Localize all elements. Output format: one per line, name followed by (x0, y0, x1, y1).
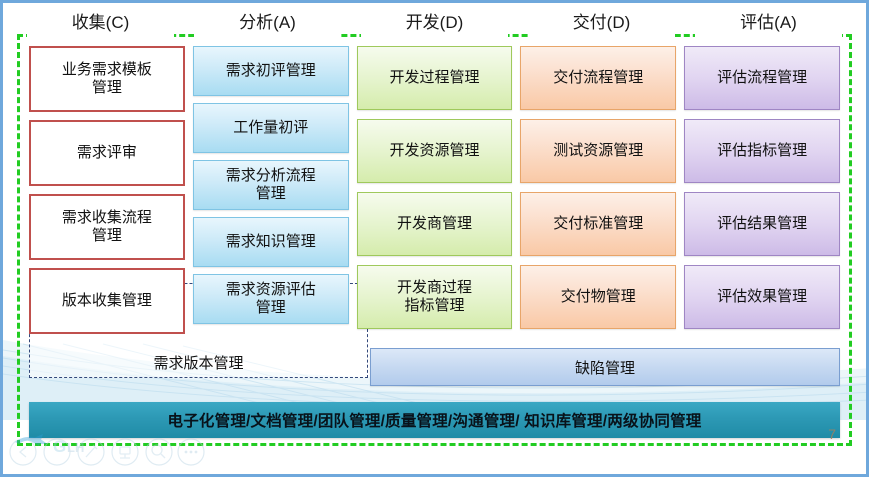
ellipsis-icon (178, 439, 204, 465)
cell-analyze-5[interactable]: 需求资源评估 管理 (193, 274, 349, 324)
cell-deliver-1[interactable]: 交付流程管理 (520, 46, 676, 110)
column-collect: 业务需求模板 管理 需求评审 需求收集流程 管理 版本收集管理 (29, 46, 185, 361)
slide-canvas: 收集(C) 分析(A) 开发(D) 交付(D) 评估(A) 业务需求模板 管理 … (0, 0, 869, 477)
cell-evaluate-3[interactable]: 评估结果管理 (684, 192, 840, 256)
chevron-left-icon (10, 439, 36, 465)
cell-collect-2[interactable]: 需求评审 (29, 120, 185, 186)
cell-deliver-4[interactable]: 交付物管理 (520, 265, 676, 329)
column-header-evaluate: 评估(A) (695, 9, 842, 39)
capability-matrix: 业务需求模板 管理 需求评审 需求收集流程 管理 版本收集管理 需求初评管理 工… (29, 46, 840, 361)
column-header-develop: 开发(D) (361, 9, 508, 39)
cell-collect-3[interactable]: 需求收集流程 管理 (29, 194, 185, 260)
column-header-analyze: 分析(A) (194, 9, 341, 39)
column-evaluate: 评估流程管理 评估指标管理 评估结果管理 评估效果管理 (684, 46, 840, 361)
cell-analyze-4[interactable]: 需求知识管理 (193, 217, 349, 267)
cell-evaluate-1[interactable]: 评估流程管理 (684, 46, 840, 110)
column-develop: 开发过程管理 开发资源管理 开发商管理 开发商过程 指标管理 (357, 46, 513, 361)
network-icon (112, 439, 138, 465)
cell-develop-2[interactable]: 开发资源管理 (357, 119, 513, 183)
cell-collect-4[interactable]: 版本收集管理 (29, 268, 185, 334)
cell-deliver-2[interactable]: 测试资源管理 (520, 119, 676, 183)
column-analyze: 需求初评管理 工作量初评 需求分析流程 管理 需求知识管理 需求资源评估 管理 (193, 46, 349, 361)
cell-analyze-1[interactable]: 需求初评管理 (193, 46, 349, 96)
column-header-deliver: 交付(D) (528, 9, 675, 39)
pencil-icon (78, 439, 104, 465)
cell-develop-1[interactable]: 开发过程管理 (357, 46, 513, 110)
cell-analyze-2[interactable]: 工作量初评 (193, 103, 349, 153)
cell-develop-4[interactable]: 开发商过程 指标管理 (357, 265, 513, 329)
column-headers: 收集(C) 分析(A) 开发(D) 交付(D) 评估(A) (17, 9, 852, 39)
column-header-collect: 收集(C) (27, 9, 174, 39)
column-deliver: 交付流程管理 测试资源管理 交付标准管理 交付物管理 (520, 46, 676, 361)
foundation-services-bar[interactable]: 电子化管理/文档管理/团队管理/质量管理/沟通管理/ 知识库管理/两级协同管理 (29, 402, 840, 438)
search-icon (146, 439, 172, 465)
cell-analyze-3[interactable]: 需求分析流程 管理 (193, 160, 349, 210)
defect-management-bar[interactable]: 缺陷管理 (370, 348, 840, 386)
svg-text:LH: LH (67, 440, 84, 455)
cell-evaluate-2[interactable]: 评估指标管理 (684, 119, 840, 183)
cell-deliver-3[interactable]: 交付标准管理 (520, 192, 676, 256)
cell-develop-3[interactable]: 开发商管理 (357, 192, 513, 256)
defect-management-label: 缺陷管理 (575, 357, 635, 378)
page-number: 7 (828, 426, 836, 442)
svg-text:G: G (53, 437, 66, 456)
cell-collect-1[interactable]: 业务需求模板 管理 (29, 46, 185, 112)
foundation-services-label: 电子化管理/文档管理/团队管理/质量管理/沟通管理/ 知识库管理/两级协同管理 (168, 409, 702, 431)
logo-mark-icon (44, 439, 70, 465)
cell-evaluate-4[interactable]: 评估效果管理 (684, 265, 840, 329)
